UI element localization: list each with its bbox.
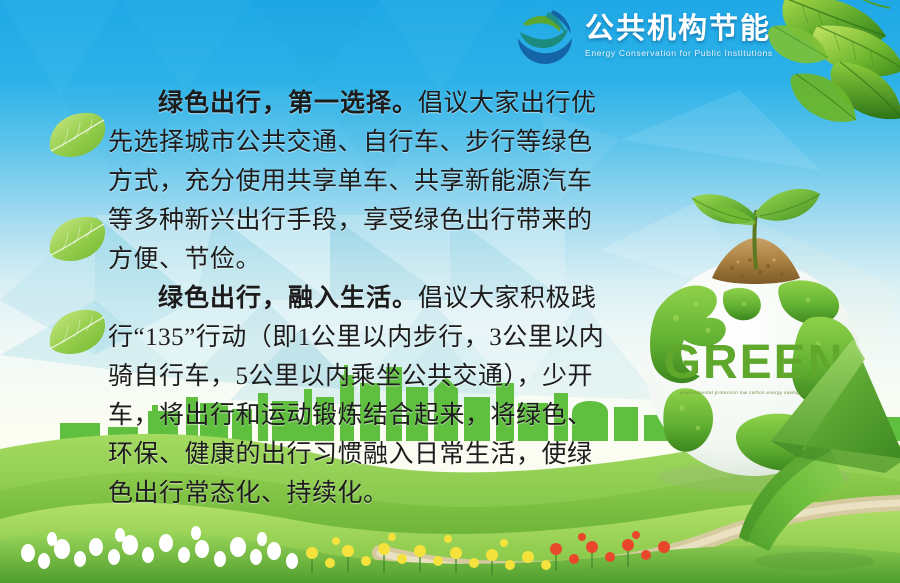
paragraph-2-body: 倡议大家积极践行“135”行动（即1公里以内步行，3公里以内骑自行车，5公里以内…: [108, 285, 604, 507]
decor-leaf-1: [46, 108, 108, 160]
paragraph-1-body: 倡议大家出行优先选择城市公共交通、自行车、步行等绿色方式，充分使用共享单车、共享…: [108, 90, 597, 273]
paragraph-2: 绿色出行，融入生活。倡议大家积极践行“135”行动（即1公里以内步行，3公里以内…: [108, 279, 608, 513]
poster-copy: 绿色出行，第一选择。倡议大家出行优先选择城市公共交通、自行车、步行等绿色方式，充…: [108, 84, 608, 513]
brand-logo: 公共机构节能 Energy Conservation for Public In…: [513, 4, 773, 68]
paragraph-1-lead: 绿色出行，第一选择。: [158, 90, 418, 117]
decor-leaf-3: [46, 305, 108, 357]
poster-root: 公共机构节能 Energy Conservation for Public In…: [0, 0, 900, 583]
decor-leaf-2: [46, 212, 108, 264]
paragraph-1: 绿色出行，第一选择。倡议大家出行优先选择城市公共交通、自行车、步行等绿色方式，充…: [108, 84, 608, 279]
green-growth-arrow: [735, 325, 900, 583]
brand-title-en: Energy Conservation for Public Instituti…: [585, 49, 773, 58]
seedling-sprout-icon: [692, 189, 820, 268]
globe-swoosh-emblem: [513, 4, 577, 68]
paragraph-2-lead: 绿色出行，融入生活。: [158, 285, 418, 312]
brand-logo-text: 公共机构节能 Energy Conservation for Public In…: [585, 15, 773, 58]
brand-title-cn: 公共机构节能: [585, 15, 773, 44]
